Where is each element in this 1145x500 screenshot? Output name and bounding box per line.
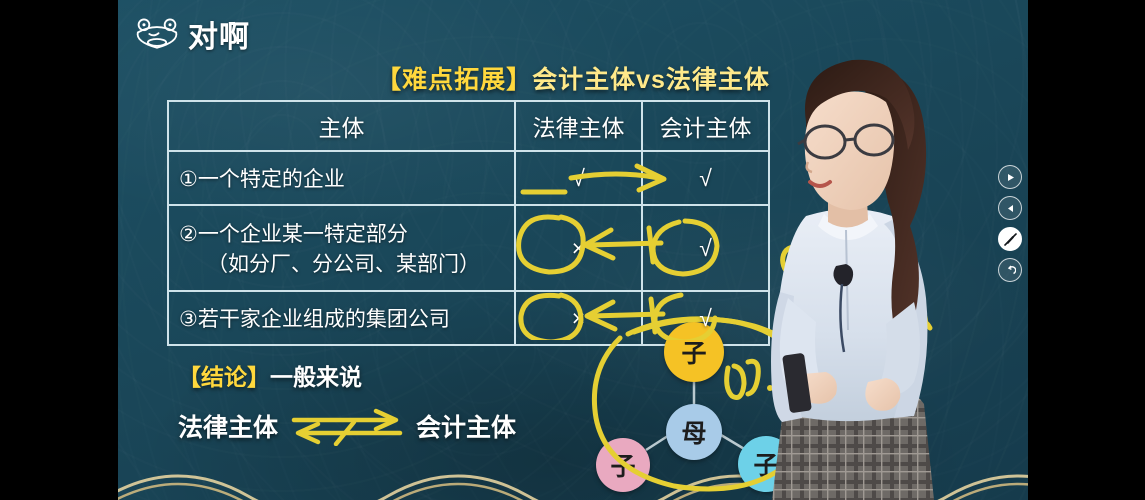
pen-disabled-glyph xyxy=(1003,232,1018,247)
conclusion-text: 一般来说 xyxy=(270,364,362,390)
header-legal-entity: 法律主体 xyxy=(515,101,642,151)
conclusion-bracket: 【结论】 xyxy=(178,364,270,390)
comparison-table: 主体 法律主体 会计主体 ①一个特定的企业 √ √ ②一个企业某一特定部分 xyxy=(167,100,770,346)
letterbox-right xyxy=(1028,0,1145,500)
undo-icon[interactable] xyxy=(998,258,1022,282)
node-label: 子 xyxy=(681,334,706,370)
player-side-controls[interactable] xyxy=(998,165,1022,282)
conclusion-relation: 法律主体 会计主体 xyxy=(178,406,608,446)
undo-glyph xyxy=(1005,265,1016,276)
mark-text: √ xyxy=(699,165,712,191)
node-child-top: 子 xyxy=(664,322,724,382)
volume-icon[interactable] xyxy=(998,196,1022,220)
mark-text: × xyxy=(572,305,585,331)
node-parent-center: 母 xyxy=(666,404,722,460)
screenshot-root: 对啊 【难点拓展】会计主体vs法律主体 主体 法律主体 会计主体 ①一个特定的企… xyxy=(0,0,1145,500)
mark-text: √ xyxy=(699,235,712,261)
table-header-row: 主体 法律主体 会计主体 xyxy=(168,101,769,151)
conclusion-line1: 【结论】一般来说 xyxy=(178,358,608,392)
row2-label-line1: ②一个企业某一特定部分 xyxy=(179,223,408,246)
mark-text: √ xyxy=(699,305,712,331)
pen-disabled-icon[interactable] xyxy=(998,227,1022,251)
play-icon[interactable] xyxy=(998,165,1022,189)
mark-text: √ xyxy=(572,165,585,191)
row1-legal-mark: √ xyxy=(515,151,642,205)
double-arrow-icon xyxy=(288,406,406,446)
conclusion-right-term: 会计主体 xyxy=(416,408,516,444)
letterbox-left xyxy=(0,0,118,500)
node-label: 子 xyxy=(610,447,635,483)
node-label: 母 xyxy=(681,414,706,450)
conclusion-block: 【结论】一般来说 法律主体 会计主体 xyxy=(178,358,608,446)
header-subject: 主体 xyxy=(168,101,515,151)
volume-glyph xyxy=(1006,204,1015,213)
table-row: ①一个特定的企业 √ √ xyxy=(168,151,769,205)
conclusion-left-term: 法律主体 xyxy=(178,408,278,444)
presenter-video-person xyxy=(728,30,1028,500)
brand-name: 对啊 xyxy=(188,12,250,56)
row2-label-line2: （如分厂、分公司、某部门） xyxy=(179,248,514,278)
mark-text: × xyxy=(572,235,585,261)
row3-label: ③若干家企业组成的集团公司 xyxy=(168,291,515,345)
title-bracket: 【难点拓展】 xyxy=(376,66,532,94)
node-child-bottom-left: 子 xyxy=(596,438,650,492)
frog-icon xyxy=(134,17,180,51)
video-player-frame[interactable]: 对啊 【难点拓展】会计主体vs法律主体 主体 法律主体 会计主体 ①一个特定的企… xyxy=(118,0,1028,500)
brand-logo: 对啊 xyxy=(134,12,250,56)
row2-legal-mark: × xyxy=(515,205,642,291)
play-glyph xyxy=(1006,173,1015,182)
row2-label-cell: ②一个企业某一特定部分 （如分厂、分公司、某部门） xyxy=(168,205,515,291)
row1-label: ①一个特定的企业 xyxy=(168,151,515,205)
table-row: ②一个企业某一特定部分 （如分厂、分公司、某部门） × √ xyxy=(168,205,769,291)
